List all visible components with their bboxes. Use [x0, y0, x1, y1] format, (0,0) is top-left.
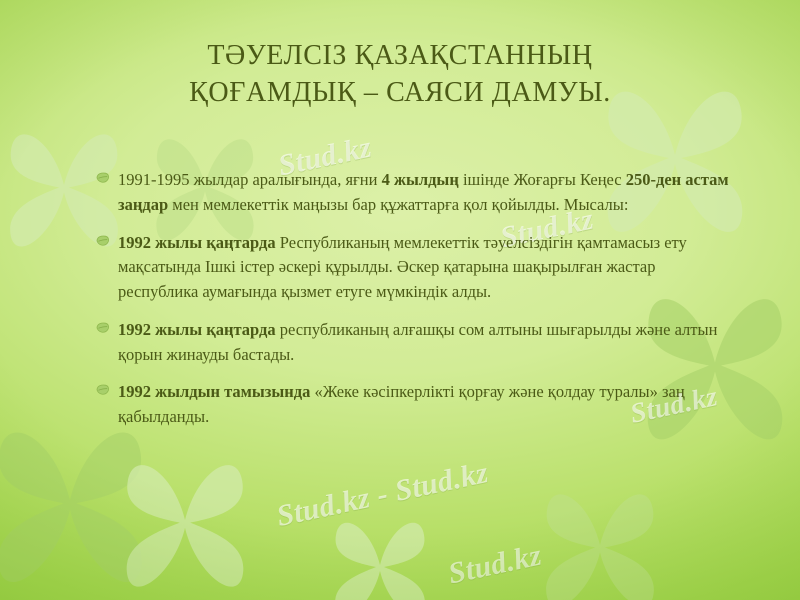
bullet-item: 1991-1995 жылдар аралығында, яғни 4 жылд…: [96, 168, 732, 218]
bullet-item: 1992 жылы қаңтарда республиканың алғашқы…: [96, 318, 732, 368]
slide-title-line-2: ҚОҒАМДЫҚ – САЯСИ ДАМУЫ.: [60, 75, 740, 112]
bullet-text-segment: жылдар аралығында, яғни: [194, 170, 382, 189]
leaf-bullet-icon: [96, 318, 118, 334]
bullet-text-segment: 1992 жылы қаңтарда: [118, 233, 280, 252]
slide-title: ТӘУЕЛСІЗ ҚАЗАҚСТАННЫҢ ҚОҒАМДЫҚ – САЯСИ Д…: [60, 38, 740, 112]
bullet-text: 1991-1995 жылдар аралығында, яғни 4 жылд…: [118, 168, 732, 218]
slide-content: ТӘУЕЛСІЗ ҚАЗАҚСТАННЫҢ ҚОҒАМДЫҚ – САЯСИ Д…: [0, 0, 800, 600]
bullet-text: 1992 жылдын тамызында «Жеке кәсіпкерлікт…: [118, 380, 732, 430]
bullet-text-segment: 1992 жылы қаңтарда: [118, 320, 280, 339]
leaf-bullet-icon: [96, 231, 118, 247]
bullet-text-segment: мен мемлекеттік маңызы бар құжаттарға қо…: [172, 195, 628, 214]
bullet-text-segment: ішінде Жоғарғы Кеңес: [463, 170, 626, 189]
slide-title-line-1: ТӘУЕЛСІЗ ҚАЗАҚСТАННЫҢ: [60, 38, 740, 75]
bullet-text-segment: 4 жылдың: [382, 170, 463, 189]
bullet-list: 1991-1995 жылдар аралығында, яғни 4 жылд…: [96, 168, 732, 443]
leaf-bullet-icon: [96, 380, 118, 396]
bullet-text: 1992 жылы қаңтарда республиканың алғашқы…: [118, 318, 732, 368]
slide-canvas: Stud.kzStud.kzStud.kzStud.kz - Stud.kzSt…: [0, 0, 800, 600]
bullet-text-segment: 1991-1995: [118, 170, 194, 189]
leaf-bullet-icon: [96, 168, 118, 184]
bullet-item: 1992 жылы қаңтарда Республиканың мемлеке…: [96, 231, 732, 305]
bullet-item: 1992 жылдын тамызында «Жеке кәсіпкерлікт…: [96, 380, 732, 430]
bullet-text-segment: 1992 жылдын тамызында: [118, 382, 315, 401]
bullet-text: 1992 жылы қаңтарда Республиканың мемлеке…: [118, 231, 732, 305]
